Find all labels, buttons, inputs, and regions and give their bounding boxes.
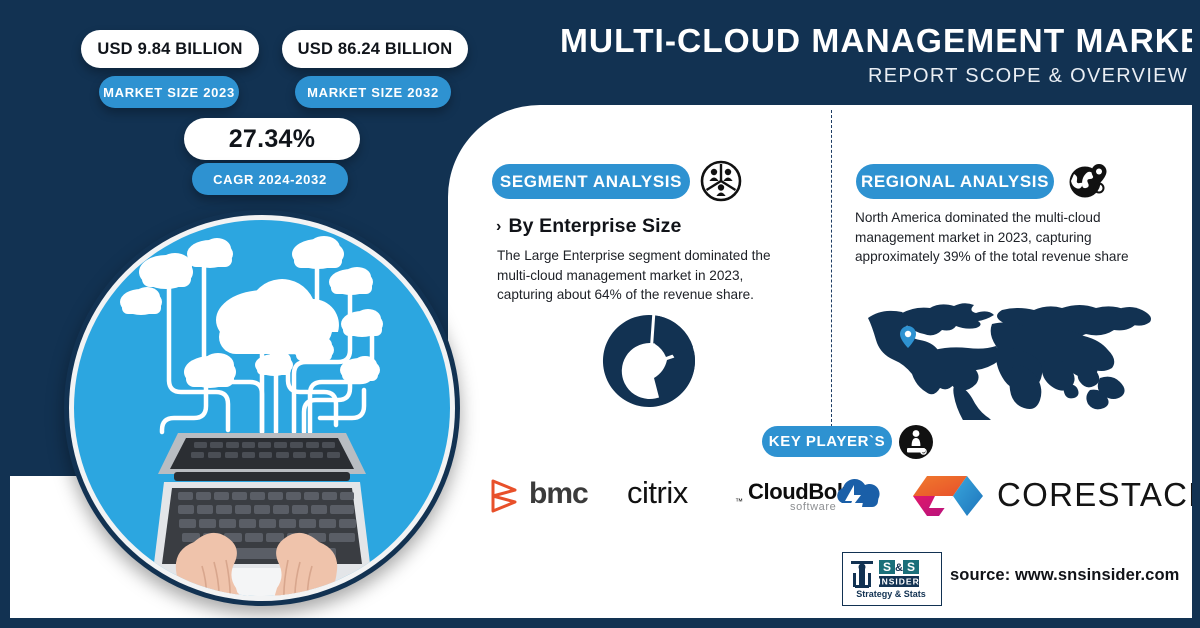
enterprise-size-donut-chart <box>593 311 705 411</box>
corestack-mark-icon <box>905 470 991 522</box>
citrix-tm-icon: ™ <box>735 497 743 506</box>
world-landmass <box>868 303 1151 420</box>
regional-paragraph: North America dominated the multi-cloud … <box>855 208 1175 267</box>
segment-pie-people-icon <box>700 160 742 207</box>
logo-cloudbolt: CloudBolt software <box>748 473 880 519</box>
cloudbolt-subtext: software <box>790 501 836 513</box>
logo-citrix: citrix ™ <box>627 473 749 519</box>
stat-label-market-size-2023: MARKET SIZE 2023 <box>99 76 239 108</box>
stat-value-cagr: 27.34% <box>184 118 360 160</box>
stat-label-market-size-2032: MARKET SIZE 2032 <box>295 76 451 108</box>
podium-person-icon <box>898 424 934 465</box>
bmc-mark-icon <box>487 477 525 515</box>
globe-pin-icon <box>1066 158 1110 207</box>
infographic-canvas: MULTI-CLOUD MANAGEMENT MARKET REPORT SCO… <box>0 0 1200 628</box>
cloud-laptop-illustration <box>74 220 450 596</box>
logo-corestack: CORESTACK <box>905 470 1187 522</box>
stat-value-market-size-2032: USD 86.24 BILLION <box>282 30 468 68</box>
segment-subhead-label: By Enterprise Size <box>508 215 681 238</box>
page-title: MULTI-CLOUD MANAGEMENT MARKET <box>560 22 1188 62</box>
svg-text:INSIDER: INSIDER <box>878 577 919 587</box>
hero-photo-circle <box>64 210 460 606</box>
world-map-chart <box>852 292 1182 420</box>
bmc-wordmark: bmc <box>529 477 588 511</box>
citrix-wordmark: citrix <box>627 475 688 511</box>
stat-label-cagr: CAGR 2024-2032 <box>192 163 348 195</box>
chevron-right-icon: › <box>496 218 501 236</box>
cloudbolt-cloud-icon <box>834 477 882 513</box>
frame-bottom <box>0 618 1200 628</box>
stat-value-market-size-2023: USD 9.84 BILLION <box>81 30 259 68</box>
cloud-network-graphic <box>74 220 450 596</box>
page-subtitle: REPORT SCOPE & OVERVIEW <box>560 63 1188 89</box>
source-label: source: www.snsinsider.com <box>950 566 1179 585</box>
regional-analysis-pill: REGIONAL ANALYSIS <box>856 164 1054 199</box>
sns-insider-logo: S S & INSIDER Strategy & Stats <box>842 552 942 606</box>
column-divider <box>831 110 832 432</box>
svg-text:S: S <box>883 560 891 574</box>
segment-paragraph: The Large Enterprise segment dominated t… <box>497 246 797 305</box>
frame-right <box>1192 0 1200 628</box>
svg-text:S: S <box>907 560 915 574</box>
segment-subhead: › By Enterprise Size <box>496 215 681 238</box>
logo-bmc: bmc <box>487 473 602 519</box>
svg-text:&: & <box>895 562 903 574</box>
laptop <box>150 433 374 596</box>
frame-top <box>0 0 1200 6</box>
segment-analysis-pill: SEGMENT ANALYSIS <box>492 164 690 199</box>
corestack-wordmark: CORESTACK <box>997 476 1200 514</box>
frame-left <box>0 0 10 628</box>
key-players-pill: KEY PLAYER`S <box>762 426 892 457</box>
svg-text:Strategy & Stats: Strategy & Stats <box>856 589 926 599</box>
